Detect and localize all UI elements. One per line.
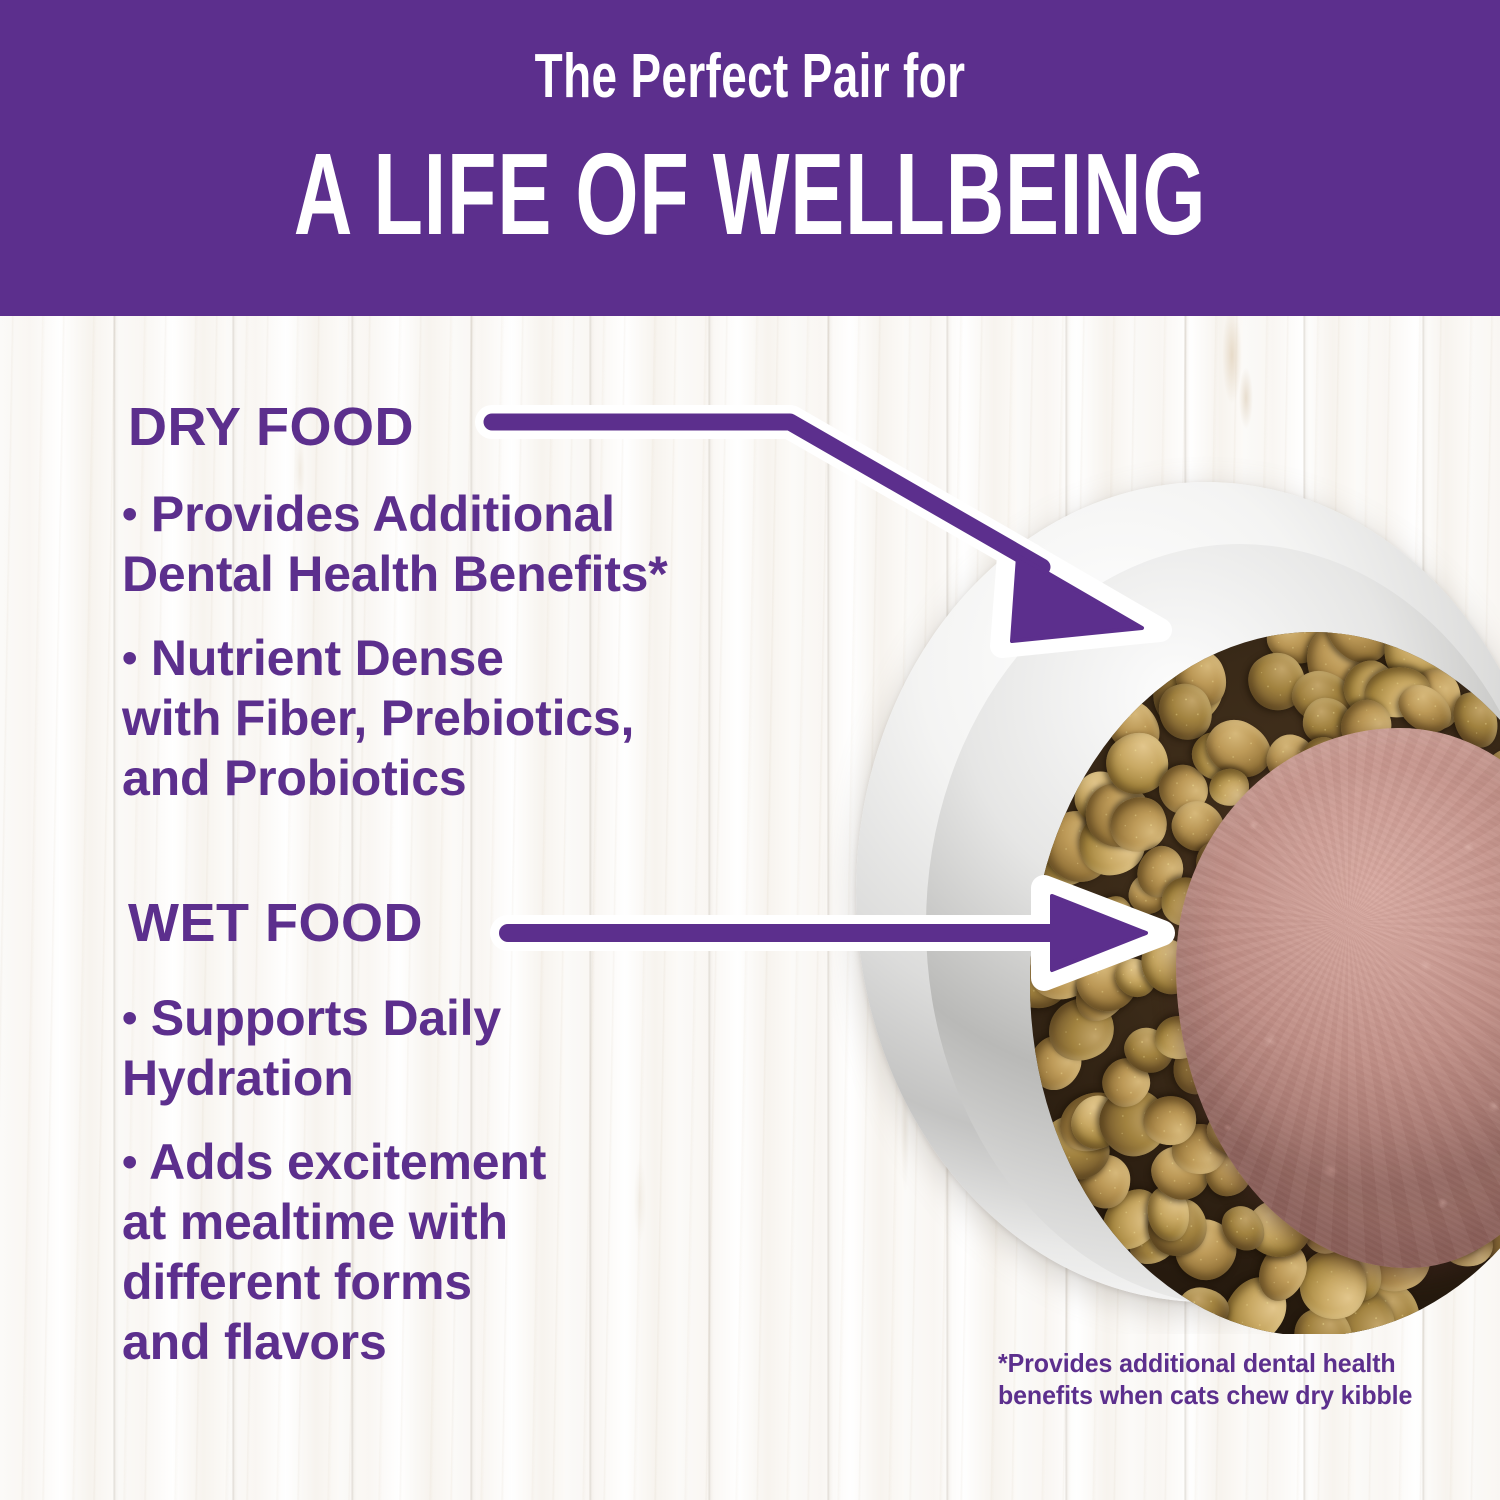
bullet-line: with Fiber, Prebiotics, <box>122 690 634 746</box>
footnote-line: *Provides additional dental health <box>998 1348 1396 1378</box>
bullet-item: • Provides Additional Dental Health Bene… <box>122 484 822 604</box>
bullet-line: Nutrient Dense <box>151 630 504 686</box>
section-heading-wet-food: WET FOOD <box>128 896 423 950</box>
bullet-line: Hydration <box>122 1050 354 1106</box>
bullet-line: Adds excitement <box>149 1134 546 1190</box>
cat-food-bowl-photo <box>822 446 1500 1334</box>
section-heading-dry-food: DRY FOOD <box>128 400 414 454</box>
bullet-line: Provides Additional <box>151 486 615 542</box>
bullet-line: different forms <box>122 1254 472 1310</box>
bullet-line: at mealtime with <box>122 1194 508 1250</box>
bowl-outer-rim <box>856 482 1500 1302</box>
bullet-dot-icon: • <box>122 993 137 1042</box>
pate-grain <box>1176 728 1500 1268</box>
bullet-line: and flavors <box>122 1314 387 1370</box>
header-banner: The Perfect Pair for A LIFE OF WELLBEING <box>0 0 1500 316</box>
bullet-line: and Probiotics <box>122 750 466 806</box>
bullet-line: Dental Health Benefits* <box>122 546 668 602</box>
footnote-line: benefits when cats chew dry kibble <box>998 1380 1412 1410</box>
bowl-interior <box>1030 632 1500 1334</box>
benefits-copy-column: DRY FOOD • Provides Additional Dental He… <box>0 316 820 1416</box>
bullet-dot-icon: • <box>122 489 137 538</box>
kibble-piece <box>1174 1284 1231 1333</box>
bullet-line: Supports Daily <box>151 990 501 1046</box>
bullet-item: • Nutrient Dense with Fiber, Prebiotics,… <box>122 628 822 808</box>
bullet-item: • Adds excitement at mealtime with diffe… <box>122 1132 822 1372</box>
header-eyebrow: The Perfect Pair for <box>195 46 1305 108</box>
bullet-dot-icon: • <box>122 1137 137 1186</box>
disclaimer-footnote: *Provides additional dental health benef… <box>998 1348 1449 1411</box>
wet-food-pate-mound <box>1176 728 1500 1268</box>
bowl-inner-rim <box>926 544 1500 1306</box>
page-title: A LIFE OF WELLBEING <box>225 136 1275 252</box>
bullet-dot-icon: • <box>122 633 137 682</box>
bullet-item: • Supports Daily Hydration <box>122 988 822 1108</box>
